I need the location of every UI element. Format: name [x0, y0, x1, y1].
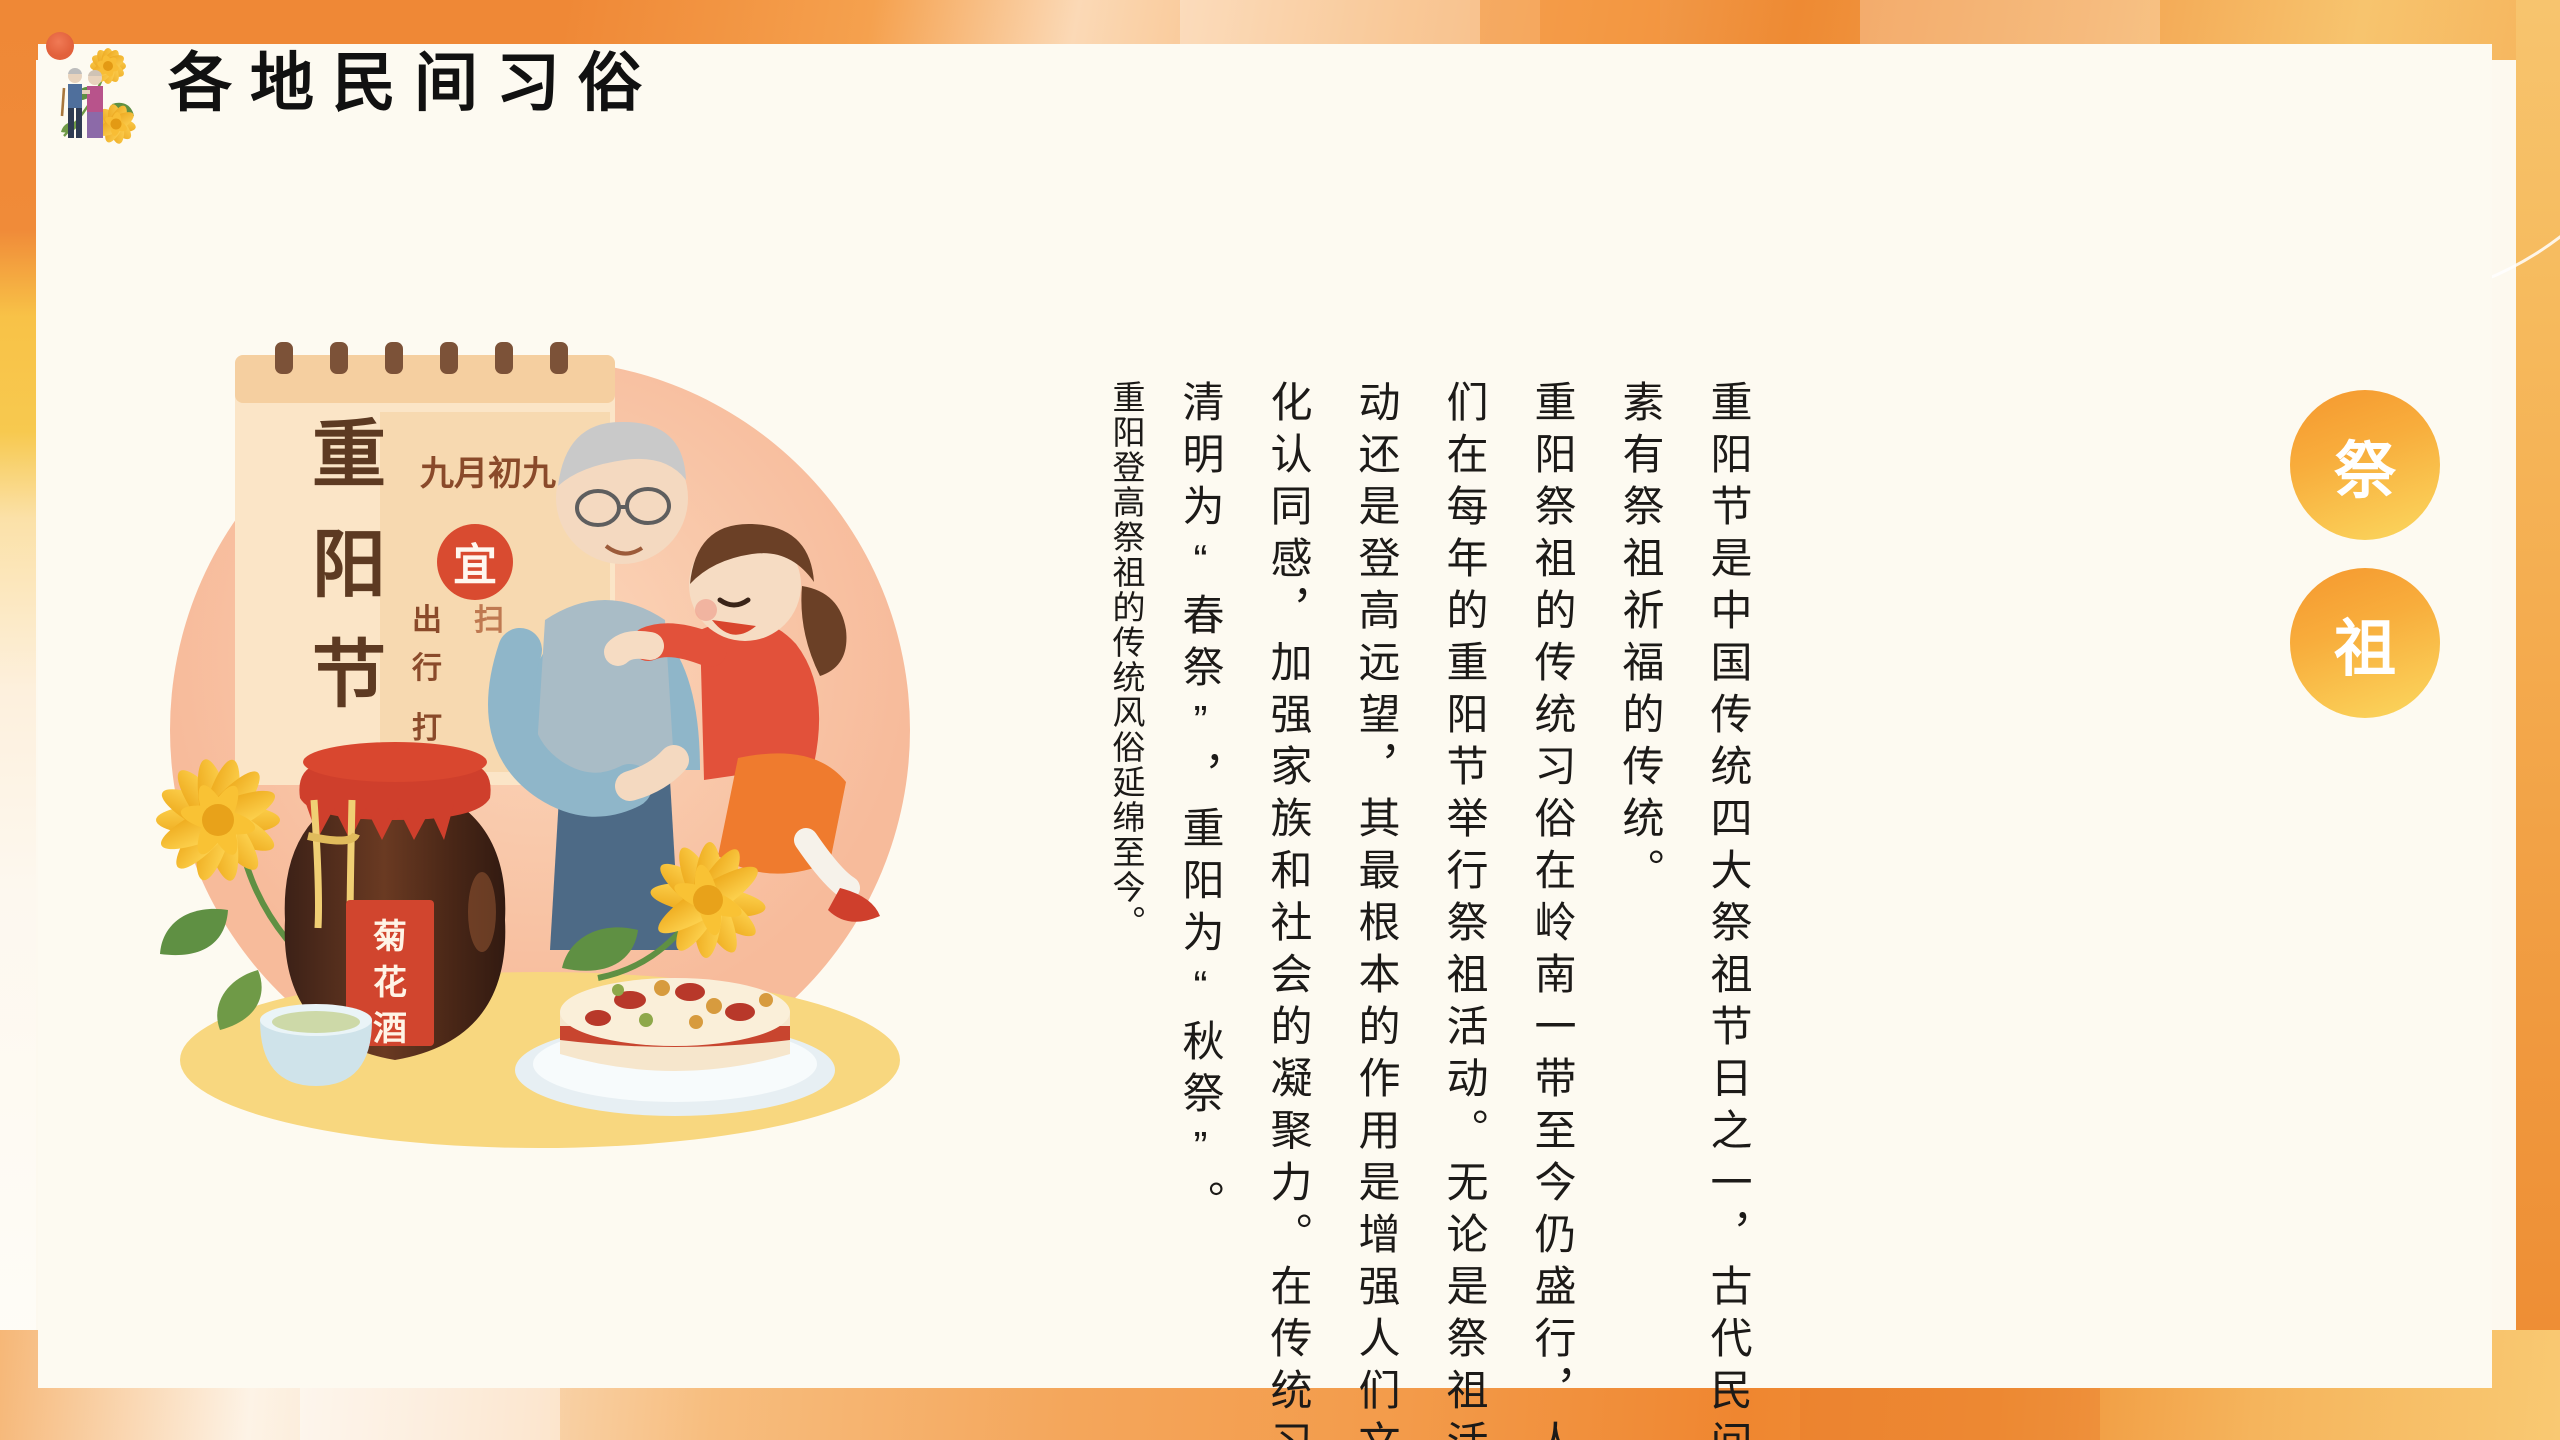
text-column-5: 动还是登高远望，其最根本的作用是增强人们文	[1344, 380, 1408, 1440]
svg-text:菊: 菊	[373, 918, 407, 956]
svg-text:重: 重	[312, 413, 386, 496]
svg-text:酒: 酒	[373, 1010, 407, 1048]
page-header: 各地民间习俗	[30, 18, 660, 148]
svg-text:阳: 阳	[312, 523, 386, 606]
text-column-2: 素有祭祖祈福的传统。	[1608, 380, 1672, 1440]
badge-zu: 祖	[2290, 568, 2440, 718]
text-column-3: 重阳祭祖的传统习俗在岭南一带至今仍盛行，人	[1520, 380, 1584, 1440]
text-column-6: 化认同感，加强家族和社会的凝聚力。在传统习	[1256, 380, 1320, 1440]
svg-text:行: 行	[411, 652, 442, 685]
page-title: 各地民间习俗	[168, 51, 660, 115]
chongyang-festival-illustration: 重 阳 节 九月初九 宜 出 行 打 扫	[90, 300, 970, 1180]
text-column-8: 重阳登高祭祖的传统风俗延绵至今。	[1094, 380, 1144, 1440]
section-badges: 祭 祖	[2290, 390, 2440, 746]
svg-text:花: 花	[373, 964, 407, 1002]
text-column-4: 们在每年的重阳节举行祭祖活动。无论是祭祖活	[1432, 380, 1496, 1440]
svg-text:出: 出	[412, 604, 442, 637]
vertical-body-text: 重阳节是中国传统四大祭祖节日之一，古代民间 素有祭祖祈福的传统。 重阳祭祖的传统…	[1060, 380, 1760, 1440]
text-column-7: 清明为“春祭”，重阳为“秋祭”。	[1168, 380, 1232, 1440]
slide-root: 各地民间习俗	[0, 0, 2560, 1440]
svg-text:打: 打	[412, 712, 442, 745]
badge-ji: 祭	[2290, 390, 2440, 540]
border-band-left	[0, 0, 36, 1440]
text-column-1: 重阳节是中国传统四大祭祖节日之一，古代民间	[1696, 380, 1760, 1440]
svg-text:九月初九: 九月初九	[420, 455, 556, 493]
chrysanthemum-elderly-couple-icon	[30, 18, 146, 148]
svg-text:节: 节	[312, 633, 386, 716]
svg-text:扫: 扫	[474, 604, 504, 637]
svg-text:宜: 宜	[453, 541, 497, 590]
